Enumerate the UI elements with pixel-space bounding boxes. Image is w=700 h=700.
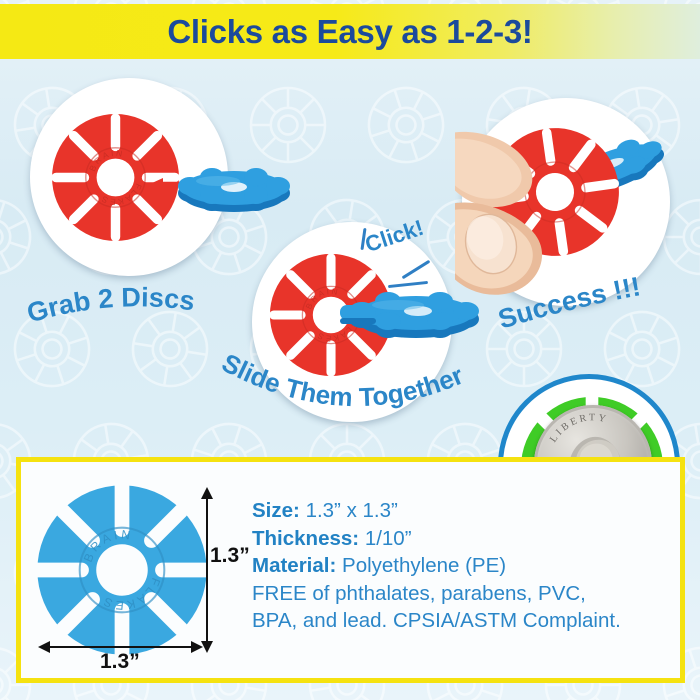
spec-blue-disc: BRAIN FLAKES: [30, 478, 214, 662]
watermark-disc-icon: [352, 71, 460, 179]
spec-key-thickness: Thickness:: [252, 527, 359, 550]
page-title: Clicks as Easy as 1-2-3!: [0, 4, 700, 59]
spec-key-size: Size:: [252, 499, 300, 522]
watermark-disc-icon: [121, 300, 219, 398]
promo-infographic: Clicks as Easy as 1-2-3!: [0, 0, 700, 700]
watermark-disc-icon: [0, 295, 106, 403]
watermark-disc-icon: [481, 306, 567, 392]
spec-free-of-line-2: BPA, and lead. CPSIA/ASTM Complaint.: [252, 607, 672, 635]
spec-row-material: Material: Polyethylene (PE): [252, 552, 672, 580]
width-dimension-label: 1.3”: [100, 650, 140, 674]
svg-text:Grab 2 Discs: Grab 2 Discs: [24, 282, 197, 328]
spec-value-thickness: 1/10”: [365, 527, 412, 550]
spec-free-of-line-1: FREE of phthalates, parabens, PVC,: [252, 580, 672, 608]
spec-value-material: Polyethylene (PE): [342, 554, 506, 577]
spec-row-size: Size: 1.3” x 1.3”: [252, 497, 672, 525]
spec-key-material: Material:: [252, 554, 336, 577]
spec-value-size: 1.3” x 1.3”: [306, 499, 398, 522]
height-dimension-label: 1.3”: [210, 544, 250, 568]
step-1-blue-disc-perspective: [178, 155, 290, 217]
step-1-caption: Grab 2 Discs: [18, 276, 238, 332]
spec-text-block: Size: 1.3” x 1.3” Thickness: 1/10” Mater…: [252, 497, 672, 635]
step-1-caption-text: Grab 2 Discs: [24, 282, 197, 328]
height-dimension-arrow: [200, 487, 214, 653]
spec-row-thickness: Thickness: 1/10”: [252, 525, 672, 553]
hand-holding-disc: [455, 120, 605, 295]
